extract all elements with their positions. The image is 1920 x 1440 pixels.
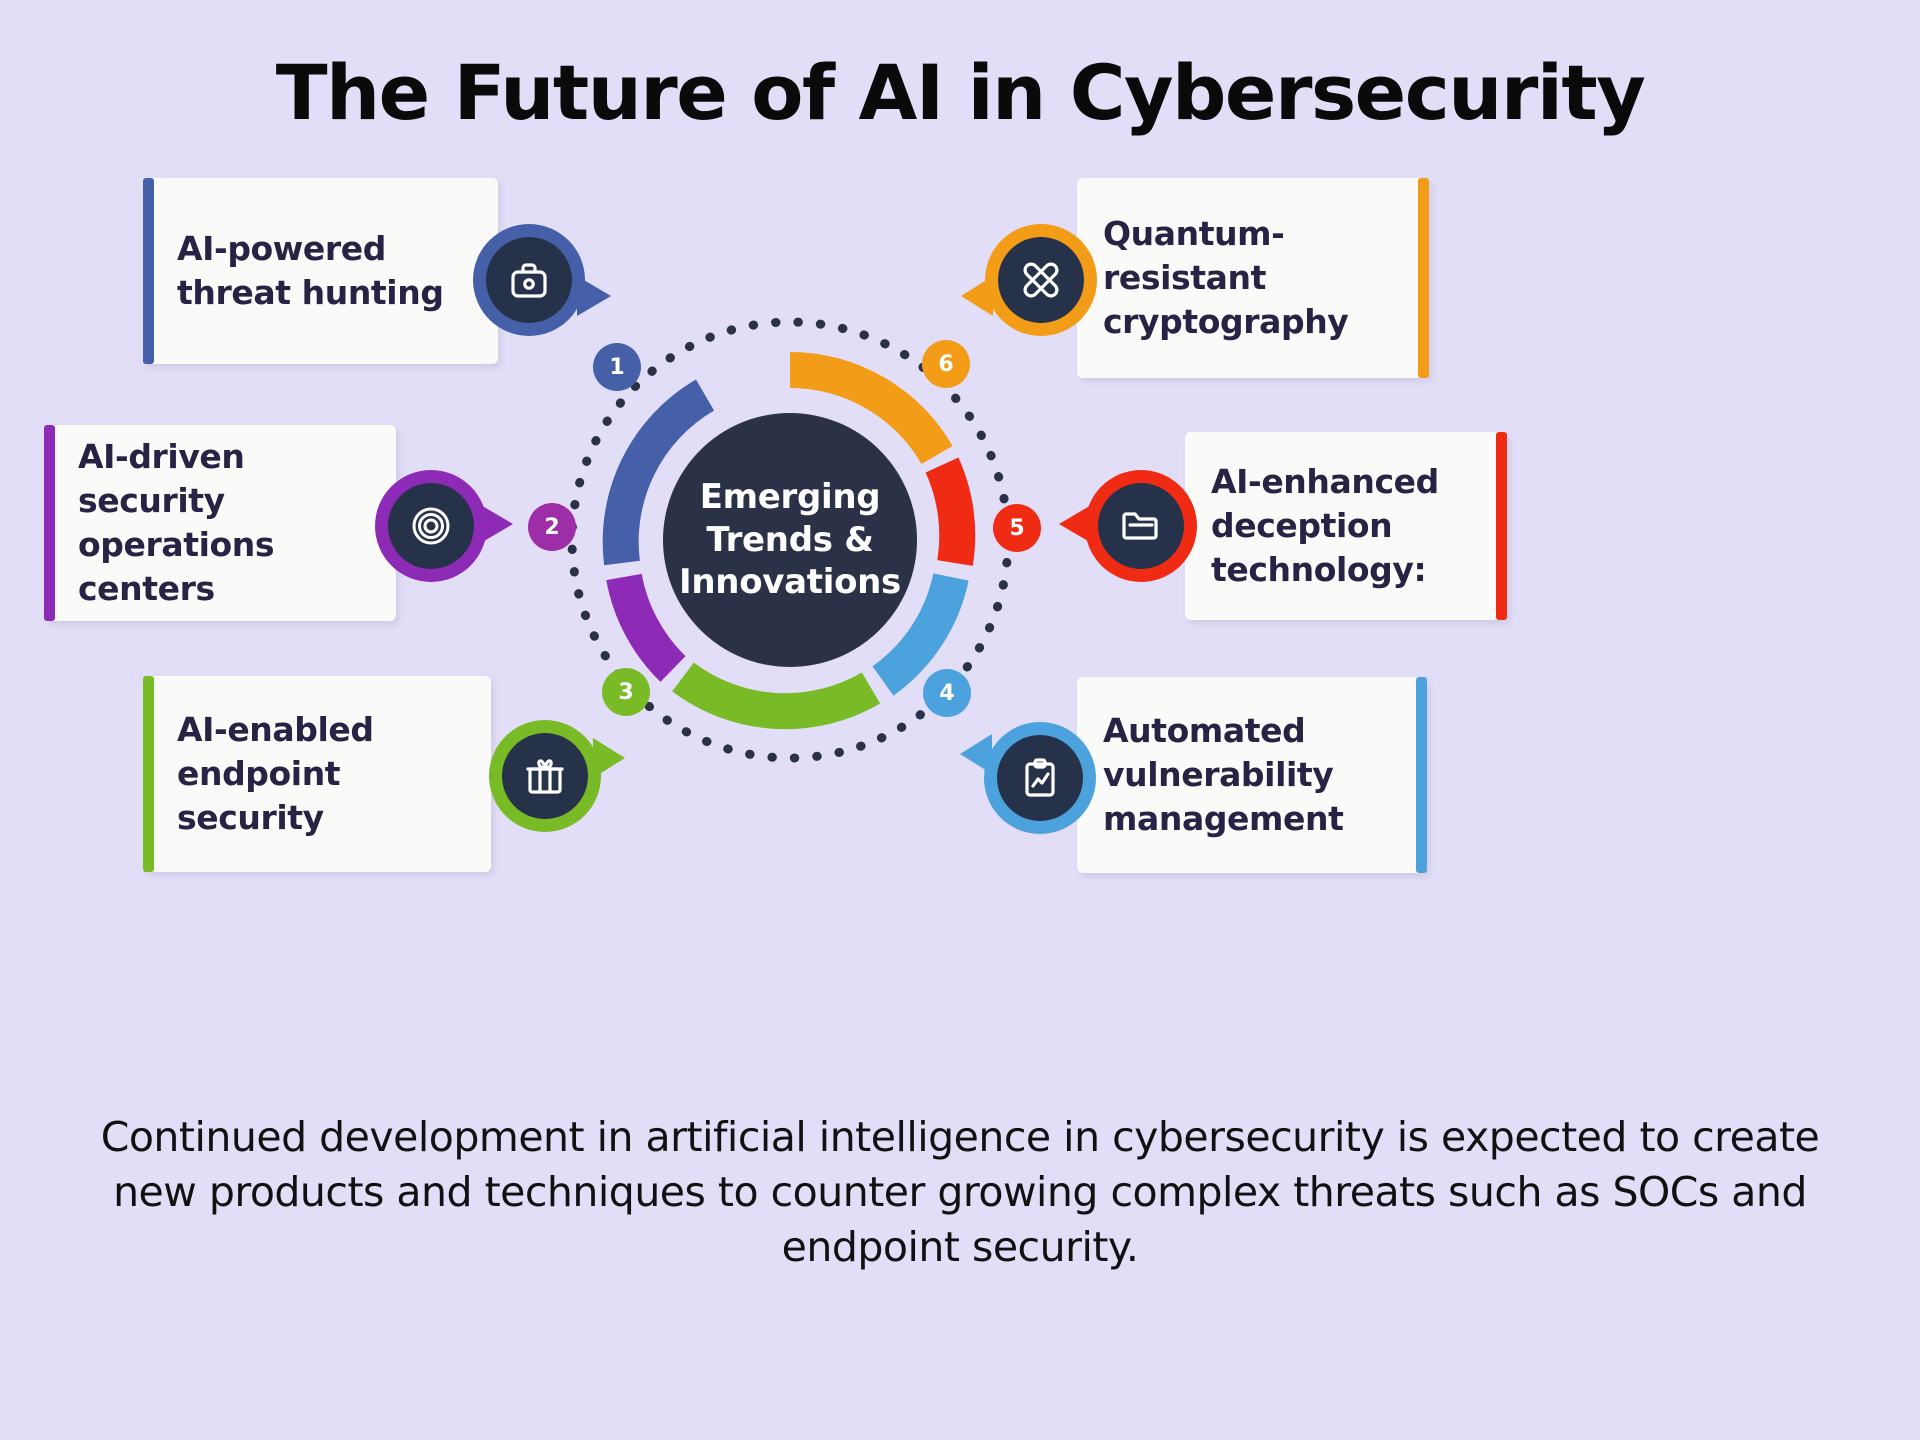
card-quantum-resistant-cryptography[interactable]: Quantum-resistant cryptography	[1077, 178, 1429, 378]
card-ai-powered-threat-hunting[interactable]: AI-powered threat hunting	[143, 178, 498, 364]
card-label: Automated vulnerability management	[1103, 709, 1393, 841]
card-accent-bar	[1496, 432, 1507, 620]
clipboard-chart-icon	[997, 735, 1083, 821]
crossed-bandage-icon	[998, 237, 1084, 323]
card-accent-bar	[143, 178, 154, 364]
card-accent-bar	[143, 676, 154, 872]
gift-box-icon	[502, 733, 588, 819]
card-label: AI-enhanced deception technology:	[1211, 460, 1473, 592]
step-badge-5[interactable]: 5	[993, 504, 1041, 552]
ring-segment-purple	[624, 577, 673, 669]
center-line-2: Trends &	[706, 520, 873, 560]
card-ai-enhanced-deception-technology[interactable]: AI-enhanced deception technology:	[1185, 432, 1507, 620]
ring-segment-green	[683, 677, 871, 711]
bubble-tail	[479, 504, 513, 544]
bubble-tail	[961, 276, 993, 316]
donut-center-label: Emerging Trends & Innovations	[663, 413, 917, 667]
step-badge-6[interactable]: 6	[922, 340, 970, 388]
card-ai-enabled-endpoint-security[interactable]: AI-enabled endpoint security	[143, 676, 491, 872]
footer-description: Continued development in artificial inte…	[0, 1110, 1920, 1275]
step-badge-2[interactable]: 2	[528, 503, 576, 551]
step-badge-4[interactable]: 4	[923, 669, 971, 717]
bubble-tail	[577, 276, 611, 316]
bubble-tail	[1059, 504, 1093, 544]
card-label: AI-powered threat hunting	[177, 227, 472, 315]
card-accent-bar	[44, 425, 55, 621]
center-line-3: Innovations	[679, 562, 901, 602]
ring-segment-red	[942, 465, 957, 563]
toolbox-icon	[486, 237, 572, 323]
card-accent-bar	[1418, 178, 1429, 378]
spiral-target-icon	[388, 483, 474, 569]
page-title: The Future of AI in Cybersecurity	[0, 48, 1920, 137]
step-badge-3[interactable]: 3	[602, 668, 650, 716]
card-label: AI-driven security operations centers	[78, 435, 370, 611]
folder-icon	[1098, 483, 1184, 569]
icon-bubble-2[interactable]	[375, 470, 487, 582]
card-label: AI-enabled endpoint security	[177, 708, 465, 840]
icon-bubble-5[interactable]	[1085, 470, 1197, 582]
card-ai-driven-security-operations-centers[interactable]: AI-driven security operations centers	[44, 425, 396, 621]
step-badge-1[interactable]: 1	[593, 343, 641, 391]
card-label: Quantum-resistant cryptography	[1103, 212, 1395, 344]
card-automated-vulnerability-management[interactable]: Automated vulnerability management	[1077, 677, 1427, 873]
center-line-1: Emerging	[700, 477, 881, 517]
bubble-tail	[960, 734, 992, 774]
card-accent-bar	[1416, 677, 1427, 873]
bubble-tail	[593, 738, 625, 778]
